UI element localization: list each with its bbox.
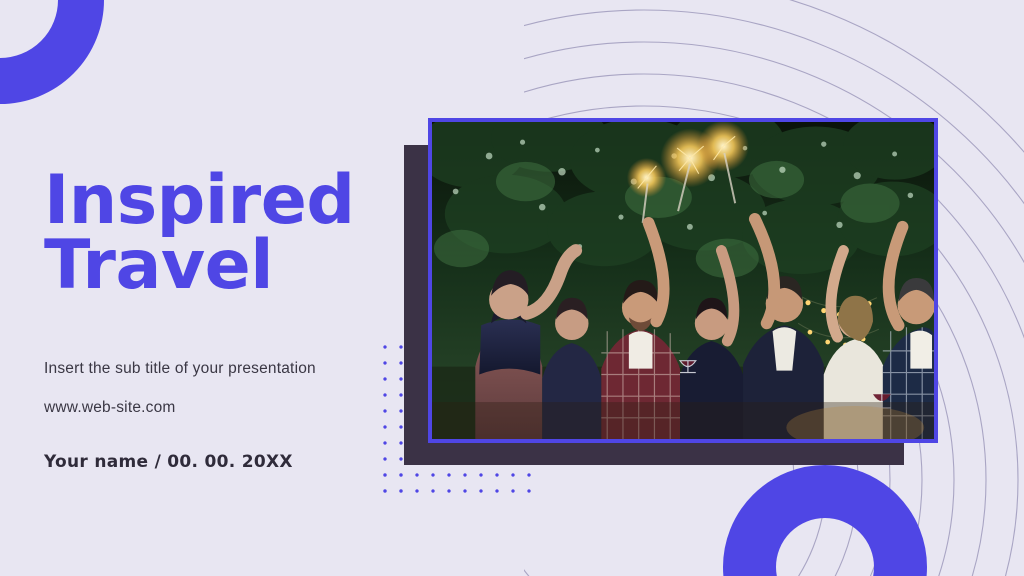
bottom-ring-decoration bbox=[723, 465, 927, 576]
photo-image bbox=[432, 122, 934, 439]
hero-photo bbox=[428, 118, 938, 443]
title-block: Inspired Travel bbox=[44, 168, 404, 299]
dot-grid-row-decoration bbox=[376, 466, 536, 494]
presentation-slide: Inspired Travel Insert the sub title of … bbox=[0, 0, 1024, 576]
byline-text: Your name / 00. 00. 20XX bbox=[44, 452, 293, 472]
page-title: Inspired Travel bbox=[44, 168, 404, 299]
corner-ring-decoration bbox=[0, 0, 104, 104]
title-line-2: Travel bbox=[44, 233, 404, 298]
